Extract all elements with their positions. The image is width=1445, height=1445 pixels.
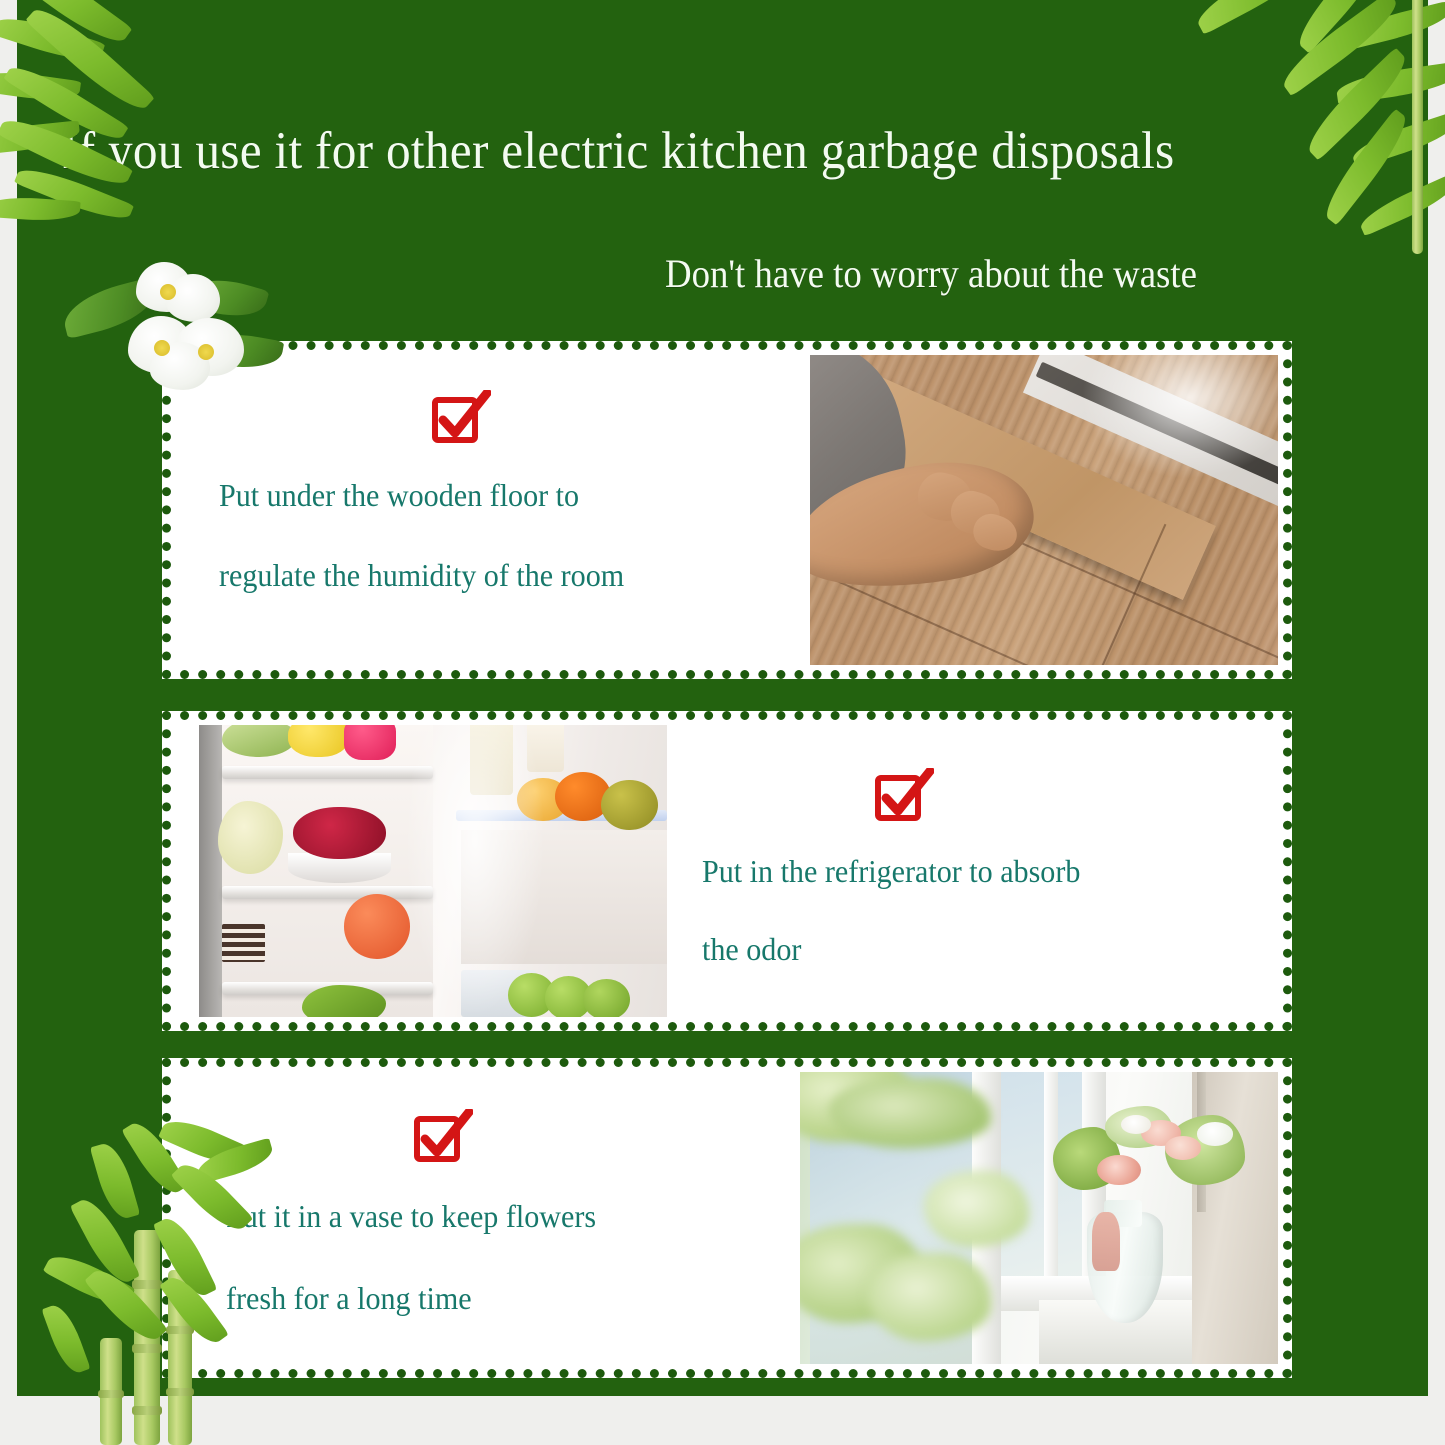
panel-2-caption-line-1: Put in the refrigerator to absorb [702, 840, 1248, 902]
panel-2-text-column: Put in the refrigerator to absorb the od… [667, 720, 1283, 1022]
product-infographic-page: If you use it for other electric kitchen… [0, 0, 1445, 1445]
page-title: If you use it for other electric kitchen… [62, 123, 1327, 180]
panel-1-caption-line-2: regulate the humidity of the room [219, 544, 775, 606]
green-billboard: If you use it for other electric kitchen… [17, 0, 1428, 1396]
checked-checkbox-icon [429, 390, 491, 446]
panel-3-caption-line-2: fresh for a long time [226, 1267, 766, 1329]
feature-panel-refrigerator: Put in the refrigerator to absorb the od… [162, 711, 1292, 1031]
flower-vase-window-photo [800, 1072, 1278, 1364]
panel-2-caption-line-2: the odor [702, 918, 1248, 980]
panel-1-text-column: Put under the wooden floor to regulate t… [171, 350, 810, 670]
open-refrigerator-photo [199, 725, 667, 1017]
checked-checkbox-icon [411, 1109, 473, 1165]
page-subtitle: Don't have to worry about the waste [665, 252, 1364, 296]
panel-1-caption-line-1: Put under the wooden floor to [219, 464, 775, 526]
panel-3-caption-line-1: Put it in a vase to keep flowers [226, 1185, 766, 1247]
wooden-floor-installation-photo [810, 355, 1278, 665]
feature-panel-flower-vase: Put it in a vase to keep flowers fresh f… [162, 1058, 1292, 1378]
panel-3-text-column: Put it in a vase to keep flowers fresh f… [171, 1067, 800, 1369]
feature-panel-wooden-floor: Put under the wooden floor to regulate t… [162, 341, 1292, 679]
checked-checkbox-icon [872, 768, 934, 824]
